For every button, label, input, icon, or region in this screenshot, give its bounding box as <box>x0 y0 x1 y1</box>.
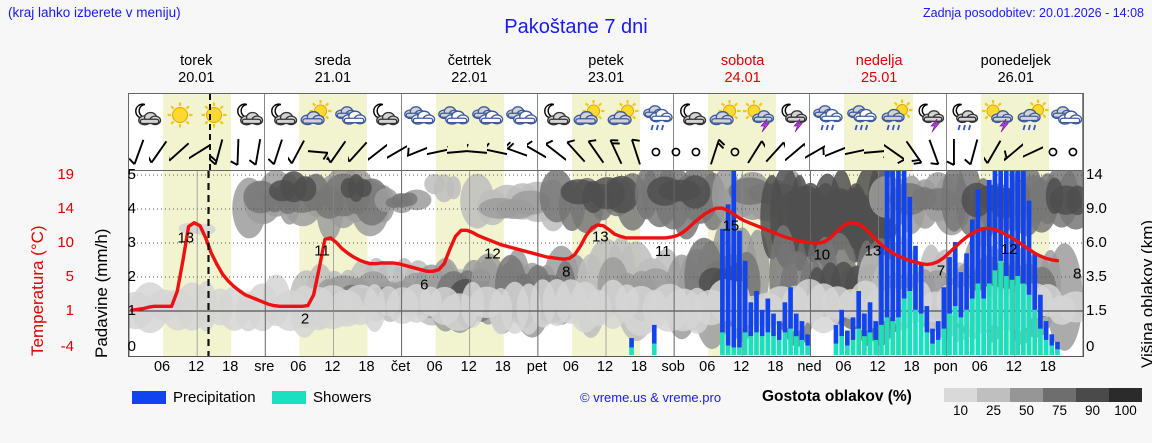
axis-tick-label: 14 <box>36 200 74 217</box>
wind-barb <box>209 134 229 170</box>
sun-thunder-icon <box>981 95 1015 135</box>
sun-cloud-icon <box>708 95 742 135</box>
x-tick-label: 18 <box>495 359 511 375</box>
wind-barb <box>666 134 686 170</box>
wind-barb <box>328 134 348 170</box>
wind-barb <box>884 134 904 170</box>
moon-cloud-icon <box>129 95 163 135</box>
day-date: 22.01 <box>401 70 538 87</box>
moon-cloud-icon <box>265 95 299 135</box>
x-tick-label: pet <box>527 359 547 375</box>
temperature-value-label: 13 <box>177 229 194 246</box>
temperature-value-label: 8 <box>1073 266 1081 283</box>
day-name: sobota <box>674 53 811 70</box>
day-header-row: torek20.01sreda21.01četrtek22.01petek23.… <box>128 53 1084 91</box>
wind-barb <box>129 134 149 170</box>
cloud-density-color-scale <box>944 388 1142 402</box>
day-date: 24.01 <box>674 70 811 87</box>
meteogram-plot: 13211612813111510137128 <box>128 171 1084 357</box>
wind-barb <box>546 134 566 170</box>
temperature-value-label: 13 <box>592 229 609 246</box>
wind-barb <box>407 134 427 170</box>
axis-tick-label: 0 <box>110 338 136 355</box>
cloud-density-scale-value: 50 <box>1019 403 1034 418</box>
cloud-density-scale-value: 25 <box>986 403 1001 418</box>
x-tick-label: 18 <box>1040 359 1056 375</box>
day-name: sreda <box>265 53 402 70</box>
temperature-value-label: 11 <box>655 243 671 260</box>
sun-cloud-icon <box>299 95 333 135</box>
wind-barb <box>725 134 745 170</box>
legend-item-precipitation: Precipitation <box>132 389 256 407</box>
wind-barb <box>348 134 368 170</box>
cloud-rain-icon <box>810 95 844 135</box>
axis-tick-label: 19 <box>36 166 74 183</box>
wind-barb <box>944 134 964 170</box>
temperature-value-label: 15 <box>723 217 740 234</box>
wind-barb <box>248 134 268 170</box>
day-header-sreda: sreda21.01 <box>265 53 402 91</box>
x-tick-label: 12 <box>597 359 613 375</box>
x-axis-tick-labels: 061218sre061218čet061218pet061218sob0612… <box>128 358 1084 380</box>
wind-barb <box>169 134 189 170</box>
axis-tick-label: 4 <box>110 200 136 217</box>
temperature-value-label: 10 <box>813 247 830 264</box>
wind-barb <box>268 134 288 170</box>
moon-thunder-icon <box>913 95 947 135</box>
cloud-density-scale-value: 75 <box>1052 403 1067 418</box>
wind-barb <box>447 134 467 170</box>
temperature-value-label: 2 <box>301 311 309 328</box>
temperature-value-label: 8 <box>562 263 570 280</box>
moon-cloud-icon <box>231 95 265 135</box>
wind-barb <box>149 134 169 170</box>
moon-cloud-icon <box>367 95 401 135</box>
cloud-icon <box>333 95 367 135</box>
wind-barb-row <box>129 134 1083 170</box>
temperature-value-label: 13 <box>865 242 882 259</box>
axis-tick-label: 6.0 <box>1086 234 1130 251</box>
temperature-value-label: 12 <box>484 245 501 262</box>
legend-item-showers: Showers <box>272 389 371 407</box>
temperature-value-label: 12 <box>1001 241 1018 258</box>
axis-tick-label: 5 <box>36 268 74 285</box>
cloud-density-swatch <box>944 388 977 402</box>
cloud-icon <box>470 95 504 135</box>
axis-tick-label: 3 <box>110 234 136 251</box>
wind-barb <box>487 134 507 170</box>
x-tick-label: 12 <box>1006 359 1022 375</box>
cloud-rain-icon <box>844 95 878 135</box>
wind-barb <box>904 134 924 170</box>
day-date: 26.01 <box>947 70 1084 87</box>
cloud-density-swatch <box>977 388 1010 402</box>
wind-barb <box>566 134 586 170</box>
sun-cloud-icon <box>572 95 606 135</box>
wind-barb <box>745 134 765 170</box>
cloud-height-axis-ticks: 149.06.03.51.50 <box>1086 171 1126 357</box>
wind-barb <box>586 134 606 170</box>
day-date: 23.01 <box>538 70 675 87</box>
x-tick-label: 06 <box>563 359 579 375</box>
wind-barb <box>228 134 248 170</box>
x-tick-label: 06 <box>290 359 306 375</box>
day-header-četrtek: četrtek22.01 <box>401 53 538 91</box>
sun-icon <box>197 95 231 135</box>
day-date: 20.01 <box>128 70 265 87</box>
x-tick-label: 18 <box>222 359 238 375</box>
axis-tick-label: 9.0 <box>1086 200 1130 217</box>
wind-barb <box>785 134 805 170</box>
day-name: torek <box>128 53 265 70</box>
axis-tick-label: 1 <box>110 302 136 319</box>
sun-icon <box>163 95 197 135</box>
x-tick-label: sob <box>661 359 684 375</box>
cloud-density-scale-labels: 1025507590100 <box>944 403 1142 421</box>
axis-tick-label: 1 <box>36 302 74 319</box>
wind-barb <box>705 134 725 170</box>
moon-cloud-icon <box>674 95 708 135</box>
wind-barb <box>527 134 547 170</box>
showers-color-swatch <box>272 391 306 404</box>
temperature-value-label: 6 <box>420 276 428 293</box>
wind-barb <box>467 134 487 170</box>
x-tick-label: 12 <box>188 359 204 375</box>
moon-cloud-icon <box>538 95 572 135</box>
wind-barb <box>805 134 825 170</box>
chart-legend: Precipitation Showers © vreme.us & vreme… <box>0 385 1152 425</box>
wind-barb <box>924 134 944 170</box>
axis-tick-label: 2 <box>110 268 136 285</box>
cloud-icon <box>436 95 470 135</box>
precipitation-axis-title: Padavine (mm/h) <box>72 172 94 358</box>
x-tick-label: pon <box>934 359 958 375</box>
x-tick-label: 06 <box>972 359 988 375</box>
cloud-rain-icon <box>640 95 674 135</box>
temperature-value-label: 7 <box>937 263 945 280</box>
cloud-height-axis-title-text: Višina oblakov (km) <box>1138 220 1152 368</box>
sun-cloud-rain-icon <box>879 95 913 135</box>
axis-tick-label: -4 <box>36 338 74 355</box>
sun-cloud-icon <box>606 95 640 135</box>
axis-tick-label: 1.5 <box>1086 302 1130 319</box>
temperature-value-label: 11 <box>314 242 330 259</box>
showers-legend-label: Showers <box>313 389 371 406</box>
day-header-sobota: sobota24.01 <box>674 53 811 91</box>
day-header-torek: torek20.01 <box>128 53 265 91</box>
cloud-density-swatch <box>1109 388 1142 402</box>
temperature-axis-title: Temperatura (°C) <box>8 172 30 358</box>
x-tick-label: 06 <box>427 359 443 375</box>
wind-barb <box>308 134 328 170</box>
x-tick-label: 18 <box>904 359 920 375</box>
temperature-axis-ticks: 19141051-4 <box>34 171 74 357</box>
wind-barb <box>1043 134 1063 170</box>
x-tick-label: 12 <box>324 359 340 375</box>
wind-barb <box>646 134 666 170</box>
wind-barb <box>288 134 308 170</box>
cloud-density-scale-value: 90 <box>1085 403 1100 418</box>
wind-barb <box>368 134 388 170</box>
cloud-density-scale-value: 10 <box>953 403 968 418</box>
x-tick-label: 06 <box>835 359 851 375</box>
day-date: 21.01 <box>265 70 402 87</box>
x-tick-label: ned <box>797 359 821 375</box>
weather-symbol-panel <box>128 93 1084 171</box>
wind-barb <box>845 134 865 170</box>
cloud-density-scale-value: 100 <box>1114 403 1137 418</box>
meteogram-canvas: 13211612813111510137128 <box>129 171 1083 356</box>
day-name: nedelja <box>811 53 948 70</box>
wind-barb <box>427 134 447 170</box>
x-tick-label: 12 <box>869 359 885 375</box>
cloud-icon <box>1049 95 1083 135</box>
day-header-ponedeljek: ponedeljek26.01 <box>947 53 1084 91</box>
x-tick-label: sre <box>254 359 274 375</box>
day-name: petek <box>538 53 675 70</box>
x-tick-label: 06 <box>154 359 170 375</box>
wind-barb <box>1063 134 1083 170</box>
precipitation-axis-ticks: 543210 <box>96 171 136 357</box>
wind-barb <box>1004 134 1024 170</box>
sun-thunder-icon <box>742 95 776 135</box>
wind-barb <box>189 134 209 170</box>
precipitation-legend-label: Precipitation <box>173 389 256 406</box>
x-tick-label: čet <box>391 359 410 375</box>
wind-barb <box>984 134 1004 170</box>
axis-tick-label: 14 <box>1086 166 1130 183</box>
moon-rain-icon <box>947 95 981 135</box>
day-date: 25.01 <box>811 70 948 87</box>
cloud-icon <box>402 95 436 135</box>
sun-cloud-rain-icon <box>1015 95 1049 135</box>
axis-tick-label: 10 <box>36 234 74 251</box>
precipitation-color-swatch <box>132 391 166 404</box>
last-updated-label: Zadnja posodobitev: 20.01.2026 - 14:08 <box>923 6 1144 20</box>
current-time-marker-top <box>209 94 211 170</box>
wind-barb <box>686 134 706 170</box>
wind-barb <box>507 134 527 170</box>
wind-barb <box>964 134 984 170</box>
day-name: četrtek <box>401 53 538 70</box>
copyright-label: © vreme.us & vreme.pro <box>580 390 721 405</box>
day-header-petek: petek23.01 <box>538 53 675 91</box>
cloud-density-swatch <box>1043 388 1076 402</box>
cloud-density-swatch <box>1076 388 1109 402</box>
moon-thunder-icon <box>776 95 810 135</box>
day-header-nedelja: nedelja25.01 <box>811 53 948 91</box>
cloud-density-legend-title: Gostota oblakov (%) <box>762 388 912 406</box>
x-tick-label: 12 <box>461 359 477 375</box>
wind-barb <box>606 134 626 170</box>
cloud-icon <box>504 95 538 135</box>
wind-barb <box>864 134 884 170</box>
x-tick-label: 12 <box>733 359 749 375</box>
x-tick-label: 18 <box>358 359 374 375</box>
x-tick-label: 18 <box>631 359 647 375</box>
cloud-density-swatch <box>1010 388 1043 402</box>
axis-tick-label: 3.5 <box>1086 268 1130 285</box>
x-tick-label: 06 <box>699 359 715 375</box>
wind-barb <box>1023 134 1043 170</box>
wind-barb <box>765 134 785 170</box>
wind-barb <box>825 134 845 170</box>
day-name: ponedeljek <box>947 53 1084 70</box>
axis-tick-label: 5 <box>110 166 136 183</box>
axis-tick-label: 0 <box>1086 338 1130 355</box>
wind-barb <box>387 134 407 170</box>
x-tick-label: 18 <box>767 359 783 375</box>
wind-barb <box>626 134 646 170</box>
